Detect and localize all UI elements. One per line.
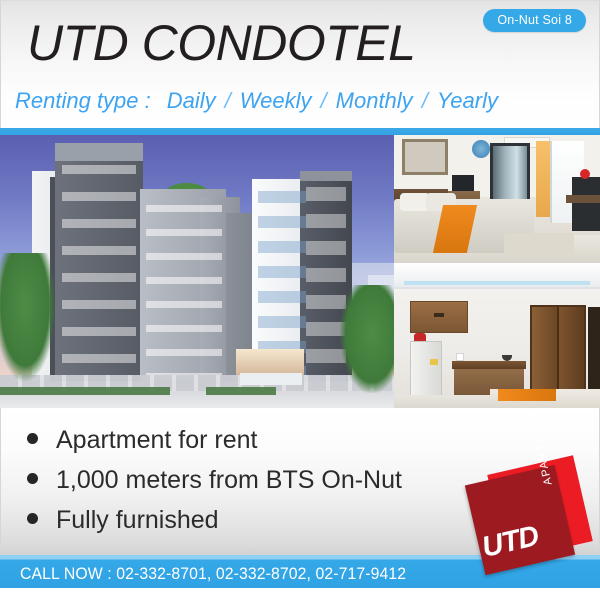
footer-spacer xyxy=(0,588,600,600)
renting-separator: / xyxy=(321,88,327,113)
renting-option-weekly: Weekly xyxy=(240,88,312,113)
hedge-row xyxy=(206,387,276,395)
photo-gallery xyxy=(0,128,600,408)
bullet-dot-icon xyxy=(27,433,38,444)
kitchenette-photo xyxy=(394,263,600,408)
utd-apartment-logo: UTD APARTMENT xyxy=(470,462,590,582)
page-title: UTD CONDOTEL xyxy=(27,15,415,71)
console-shelf-top xyxy=(452,361,526,369)
hedge-row xyxy=(0,387,170,395)
cabinet-top xyxy=(566,195,600,203)
renting-option-yearly: Yearly xyxy=(437,88,498,113)
bedroom-photo xyxy=(394,135,600,263)
building-right-cap xyxy=(300,171,352,181)
dark-cabinet xyxy=(572,177,600,231)
wardrobe-door-seam xyxy=(557,305,559,399)
window-curtain xyxy=(536,141,550,217)
television xyxy=(452,175,474,191)
foreground-tree-right xyxy=(340,285,394,393)
tower-window-grid xyxy=(62,165,136,381)
renting-option-daily: Daily xyxy=(167,88,216,113)
renting-option-monthly: Monthly xyxy=(336,88,413,113)
fridge-label xyxy=(430,359,438,365)
list-item: Apartment for rent xyxy=(27,424,497,457)
list-item: 1,000 meters from BTS On-Nut xyxy=(27,464,497,497)
orange-bed-runner xyxy=(498,389,556,401)
entrance-signboard xyxy=(240,373,302,385)
red-flower-decor xyxy=(580,169,590,179)
location-badge: On-Nut Soi 8 xyxy=(483,9,586,32)
ceiling-light-strip xyxy=(404,281,590,285)
foreground-tree-left xyxy=(0,253,56,383)
mid-window-grid xyxy=(146,205,222,385)
header-section: UTD CONDOTEL On-Nut Soi 8 Renting type :… xyxy=(0,0,600,128)
feature-text: Apartment for rent xyxy=(56,424,257,457)
building-tower-cap xyxy=(55,143,143,161)
renting-separator: / xyxy=(225,88,231,113)
wardrobe-side-shadow xyxy=(588,307,600,399)
list-item: Fully furnished xyxy=(27,504,497,537)
feature-list: Apartment for rent 1,000 meters from BTS… xyxy=(27,424,497,544)
cup xyxy=(456,353,464,361)
blue-divider-bar xyxy=(0,128,600,135)
phone-numbers-text[interactable]: CALL NOW : 02-332-8701, 02-332-8702, 02-… xyxy=(20,563,406,584)
floor-rug xyxy=(504,233,574,257)
building-exterior-photo xyxy=(0,135,394,408)
refrigerator xyxy=(410,341,442,399)
cupboard-handle xyxy=(434,313,444,317)
bullet-dot-icon xyxy=(27,513,38,524)
ceiling xyxy=(394,263,600,289)
renting-type-line: Renting type :Daily/Weekly/Monthly/Yearl… xyxy=(15,87,591,115)
wall-cupboard xyxy=(410,301,468,333)
advertisement-poster: UTD CONDOTEL On-Nut Soi 8 Renting type :… xyxy=(0,0,600,600)
feature-text: 1,000 meters from BTS On-Nut xyxy=(56,464,402,497)
feature-text: Fully furnished xyxy=(56,504,219,537)
bullet-dot-icon xyxy=(27,473,38,484)
wall-mirror xyxy=(402,139,448,175)
bathroom-glass-door xyxy=(490,143,530,207)
renting-type-label: Renting type : xyxy=(15,88,151,113)
wall-fan xyxy=(472,140,490,158)
renting-separator: / xyxy=(422,88,428,113)
